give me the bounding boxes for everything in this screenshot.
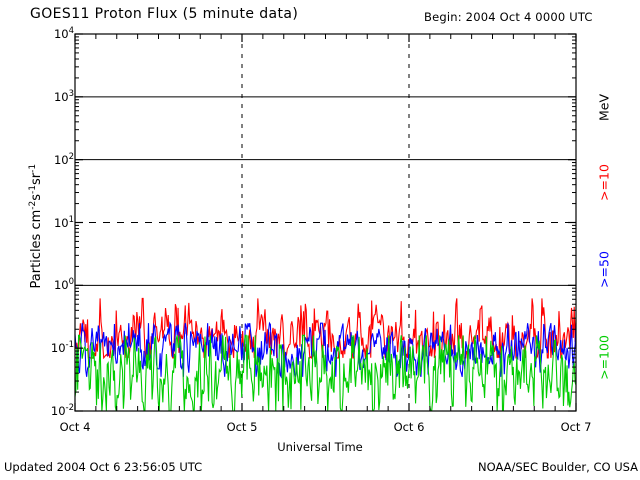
updated-timestamp: Updated 2004 Oct 6 23:56:05 UTC: [4, 460, 202, 474]
data-source-label: NOAA/SEC Boulder, CO USA: [478, 460, 638, 474]
proton-flux-plot: [0, 0, 640, 480]
